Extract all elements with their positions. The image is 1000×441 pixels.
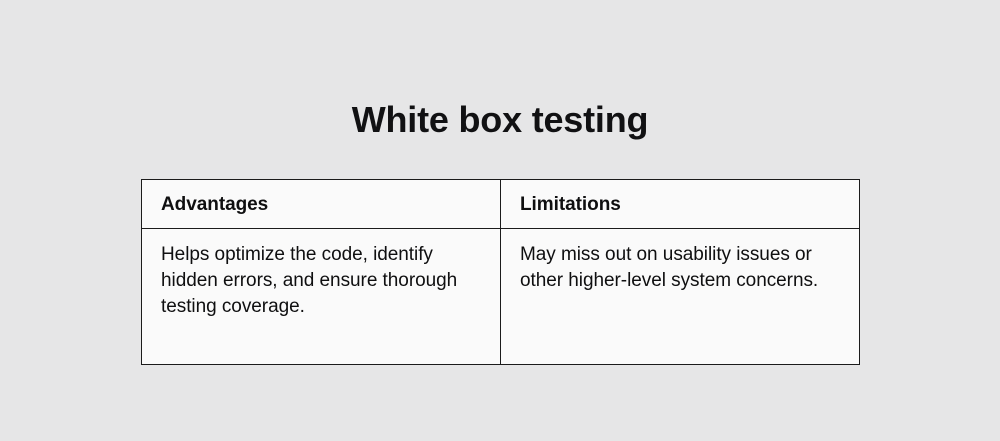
slide-canvas: White box testing Advantages Limitations…	[0, 0, 1000, 441]
column-header-limitations-label: Limitations	[501, 180, 859, 228]
advantages-description: Helps optimize the code, identify hidden…	[142, 229, 500, 336]
column-header-advantages: Advantages	[142, 180, 501, 229]
limitations-description: May miss out on usability issues or othe…	[501, 229, 859, 310]
table-header-row: Advantages Limitations	[142, 180, 860, 229]
table-header: Advantages Limitations	[142, 180, 860, 229]
advantages-limitations-table: Advantages Limitations Helps optimize th…	[141, 179, 860, 365]
table-body: Helps optimize the code, identify hidden…	[142, 229, 860, 365]
column-header-limitations: Limitations	[501, 180, 860, 229]
cell-advantages-text: Helps optimize the code, identify hidden…	[142, 229, 501, 365]
page-title: White box testing	[0, 98, 1000, 142]
cell-limitations-text: May miss out on usability issues or othe…	[501, 229, 860, 365]
table-row: Helps optimize the code, identify hidden…	[142, 229, 860, 365]
column-header-advantages-label: Advantages	[142, 180, 500, 228]
